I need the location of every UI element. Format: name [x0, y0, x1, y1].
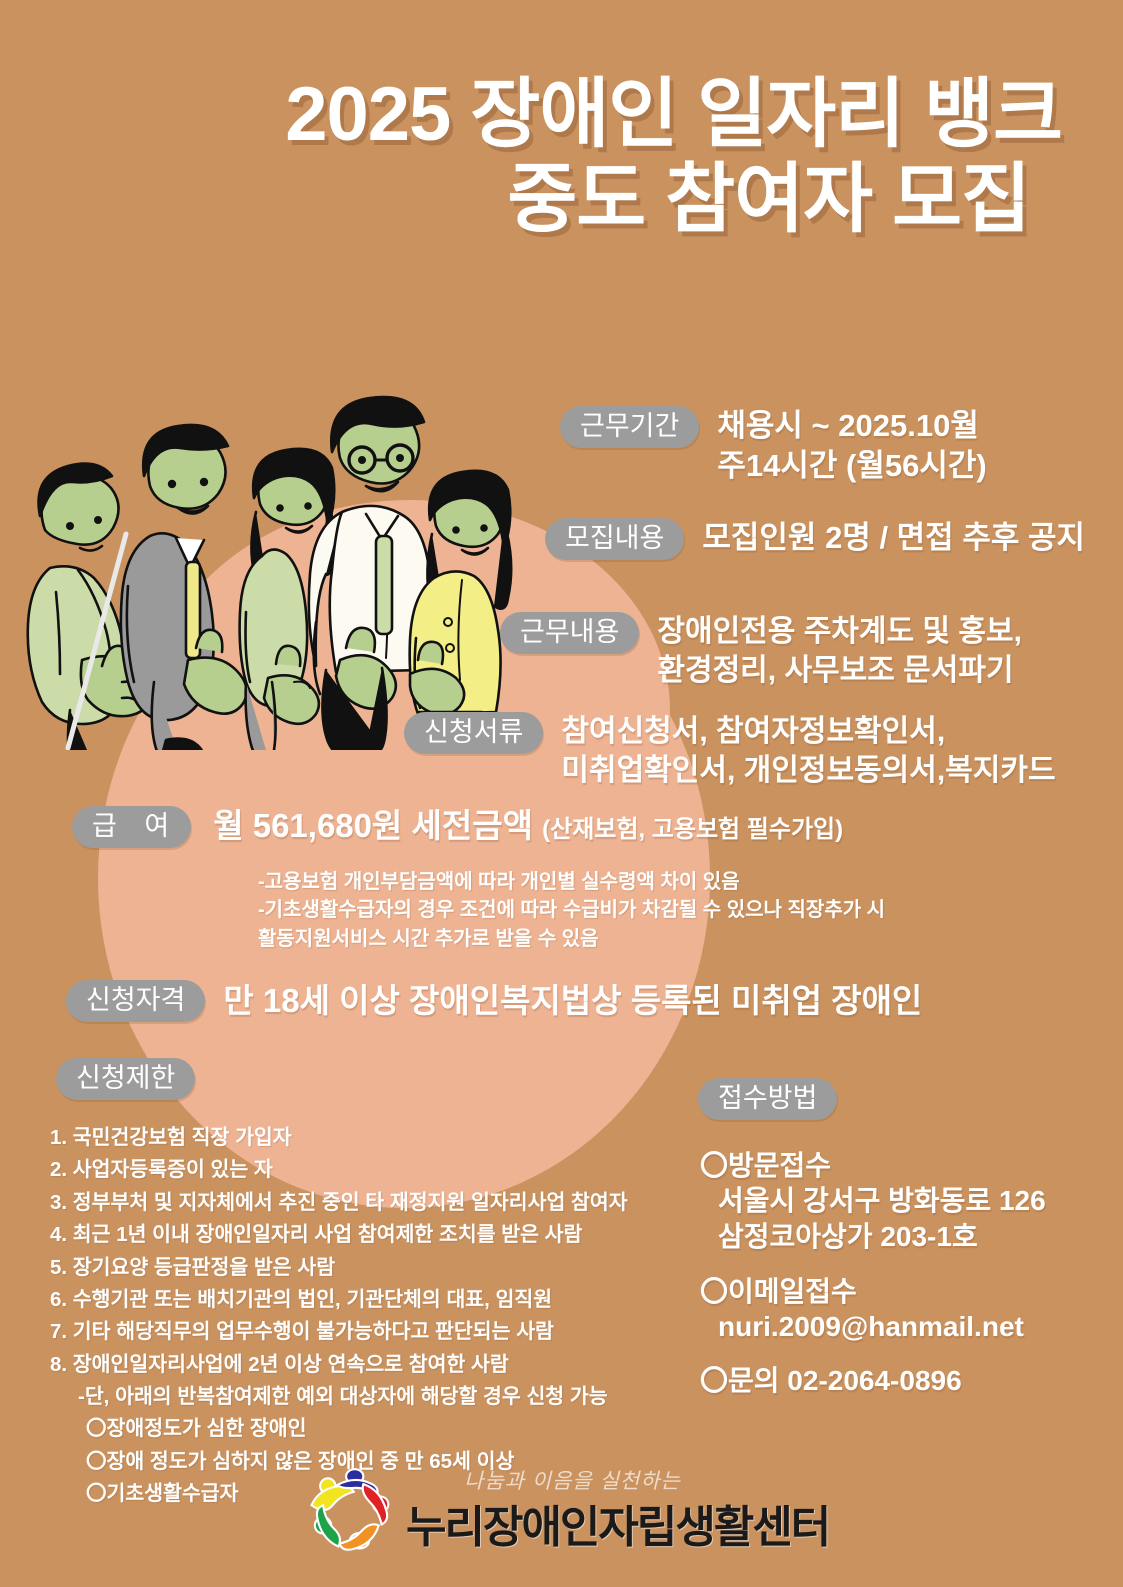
footer-logo: 나눔과 이음을 실천하는 누리장애인자립생활센터	[300, 1462, 829, 1558]
salary-notes: -고용보험 개인부담금액에 따라 개인별 실수령액 차이 있음 -기초생활수급자…	[258, 868, 885, 953]
poster-title: 2025 장애인 일자리 뱅크 중도 참여자 모집	[0, 72, 1070, 242]
value-recruit-detail: 모집인원 2명 / 면접 추후 공지	[702, 518, 1085, 558]
apply-item-visit: 〇방문접수 서울시 강서구 방화동로 126 삼정코아상가 203-1호	[700, 1148, 1046, 1256]
logo-figure-red	[363, 1484, 389, 1524]
restriction-item: 3. 정부부처 및 지자체에서 추진 중인 타 재정지원 일자리사업 참여자	[50, 1187, 690, 1219]
restriction-item: 8. 장애인일자리사업에 2년 이상 연속으로 참여한 사람	[50, 1349, 690, 1381]
value-documents: 참여신청서, 참여자정보확인서, 미취업확인서, 개인정보동의서,복지카드	[561, 712, 1055, 790]
label-documents: 신청서류	[404, 712, 543, 754]
title-line-2: 중도 참여자 모집	[0, 157, 1070, 242]
info-row-documents: 신청서류 참여신청서, 참여자정보확인서, 미취업확인서, 개인정보동의서,복지…	[404, 712, 1056, 790]
value-duty: 장애인전용 주차계도 및 홍보, 환경정리, 사무보조 문서파기	[657, 612, 1022, 690]
restriction-item: 6. 수행기관 또는 배치기관의 법인, 기관단체의 대표, 임직원	[50, 1284, 690, 1316]
apply-email-address[interactable]: nuri.2009@hanmail.net	[700, 1309, 1046, 1345]
label-apply-method: 접수방법	[698, 1078, 837, 1120]
value-salary: 월 561,680원 세전금액 (산재보험, 고용보험 필수가입)	[213, 806, 843, 846]
restrictions-list: 1. 국민건강보험 직장 가입자 2. 사업자등록증이 있는 자 3. 정부부처…	[50, 1122, 690, 1511]
title-line-1: 2025 장애인 일자리 뱅크	[0, 72, 1070, 157]
restriction-item: 4. 최근 1년 이내 장애인일자리 사업 참여제한 조치를 받은 사람	[50, 1219, 690, 1251]
value-period: 채용시 ~ 2025.10월 주14시간 (월56시간)	[717, 406, 986, 487]
info-row-recruit-detail: 모집내용 모집인원 2명 / 면접 추후 공지	[545, 518, 1085, 560]
info-row-eligibility: 신청자격 만 18세 이상 장애인복지법상 등록된 미취업 장애인	[66, 980, 922, 1023]
person-5	[410, 471, 512, 750]
restriction-sub-note: -단, 아래의 반복참여제한 예외 대상자에 해당할 경우 신청 가능	[50, 1381, 690, 1413]
apply-visit-head: 〇방문접수	[700, 1148, 1046, 1183]
apply-phone-head[interactable]: 〇문의 02-2064-0896	[700, 1363, 1046, 1398]
apply-method-block: 〇방문접수 서울시 강서구 방화동로 126 삼정코아상가 203-1호 〇이메…	[700, 1148, 1046, 1416]
apply-item-phone: 〇문의 02-2064-0896	[700, 1363, 1046, 1398]
label-salary: 급 여	[72, 806, 191, 848]
apply-item-email: 〇이메일접수 nuri.2009@hanmail.net	[700, 1274, 1046, 1345]
salary-amount: 월 561,680원 세전금액	[213, 807, 533, 844]
people-illustration	[10, 330, 540, 750]
logo-figure-green	[315, 1505, 340, 1546]
restriction-item: 1. 국민건강보험 직장 가입자	[50, 1122, 690, 1154]
label-period: 근무기간	[560, 406, 699, 448]
apply-visit-address-1: 서울시 강서구 방화동로 126	[700, 1183, 1046, 1219]
apply-visit-address-2: 삼정코아상가 203-1호	[700, 1219, 1046, 1255]
info-row-salary: 급 여 월 561,680원 세전금액 (산재보험, 고용보험 필수가입)	[72, 806, 843, 848]
restriction-item: 5. 장기요양 등급판정을 받은 사람	[50, 1252, 690, 1284]
restriction-item: 2. 사업자등록증이 있는 자	[50, 1154, 690, 1186]
person-2	[121, 425, 247, 750]
logo-text: 나눔과 이음을 실천하는 누리장애인자립생활센터	[406, 1465, 829, 1555]
info-row-duty: 근무내용 장애인전용 주차계도 및 홍보, 환경정리, 사무보조 문서파기	[500, 612, 1022, 690]
restriction-exception: 〇장애정도가 심한 장애인	[50, 1413, 690, 1445]
logo-figure-orange	[339, 1524, 378, 1549]
poster-root: 2025 장애인 일자리 뱅크 중도 참여자 모집	[0, 0, 1123, 1587]
label-restrictions: 신청제한	[56, 1058, 195, 1100]
logo-tagline: 나눔과 이음을 실천하는	[464, 1465, 829, 1495]
restriction-item: 7. 기타 해당직무의 업무수행이 불가능하다고 판단되는 사람	[50, 1316, 690, 1348]
label-eligibility: 신청자격	[66, 980, 205, 1022]
value-eligibility: 만 18세 이상 장애인복지법상 등록된 미취업 장애인	[223, 980, 922, 1023]
apply-email-head: 〇이메일접수	[700, 1274, 1046, 1309]
logo-organization-name: 누리장애인자립생활센터	[406, 1491, 829, 1555]
label-recruit-detail: 모집내용	[545, 518, 684, 560]
nuri-pinwheel-logo-icon	[300, 1462, 396, 1558]
label-duty: 근무내용	[500, 612, 639, 654]
info-row-period: 근무기간 채용시 ~ 2025.10월 주14시간 (월56시간)	[560, 406, 987, 487]
salary-insurance-note: (산재보험, 고용보험 필수가입)	[542, 816, 843, 843]
